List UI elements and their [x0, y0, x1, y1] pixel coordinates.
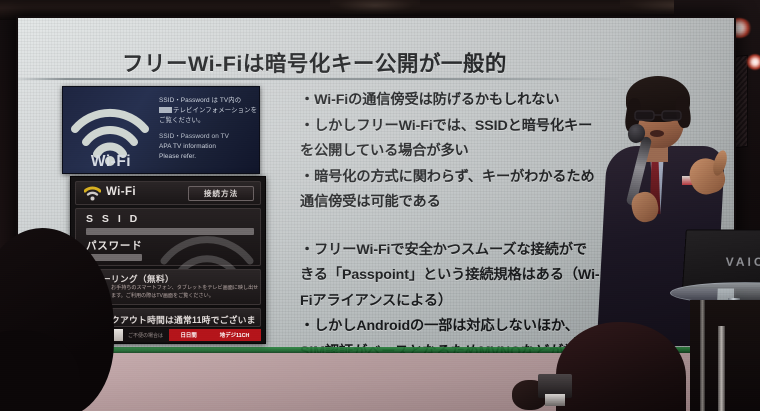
wifi-header-bar: Wi-Fi 接続方法: [75, 181, 261, 205]
redacted-block: [159, 107, 172, 113]
bullet-line: ・しかしフリーWi-Fiでは、SSIDと暗号化キー: [300, 114, 630, 140]
photo-scene: フリーWi-Fiは暗号化キー公開が一般的 ・Wi-Fiの通信傍受は防げるかもしれ…: [0, 0, 760, 411]
stage-lamp-3: [746, 54, 760, 70]
tv-wifi-info-panel: Wi-Fi SSID・Password は TV内の テレビインフォメーションを…: [62, 86, 260, 174]
ssid-label: S S I D: [86, 213, 140, 225]
tv-wifi-brand-label: Wi-Fi: [65, 153, 157, 171]
bottom-bar-caption: ご不便の場合は: [125, 328, 169, 342]
bullet-line: を公開している場合が多い: [300, 139, 630, 165]
title-divider: [18, 78, 618, 80]
tv-panel-text: SSID・Password は TV内の テレビインフォメーションを ご覧くださ…: [159, 96, 259, 162]
bullet-line: 通信傍受は可能である: [300, 190, 630, 216]
channel-label-2: 地デジ11CH: [220, 331, 250, 339]
mirroring-description: お手持ちのスマートフォン、タブレットをテレビ画面に映し出せます。ご利用の際はTV…: [111, 285, 259, 300]
presenter-mouth: [650, 130, 664, 137]
mic-stand-pole: [718, 326, 725, 411]
bullet-group-1: ・Wi-Fiの通信傍受は防げるかもしれない ・しかしフリーWi-Fiでは、SSI…: [300, 88, 630, 216]
presenter-laptop: VAIO: [682, 230, 760, 289]
bullet-line: ・フリーWi-Fiで安全かつスムーズな接続がで: [300, 238, 630, 264]
glasses-icon: [634, 108, 682, 120]
tripod-pole: [700, 300, 705, 411]
bullet-line: ・暗号化の方式に関わらず、キーがわかるため: [300, 165, 630, 191]
wifi-header-title: Wi-Fi: [106, 186, 136, 198]
laptop-brand-label: VAIO: [684, 255, 760, 269]
ssid-value-redacted: [86, 228, 254, 235]
ceiling-light-rig: [330, 0, 420, 14]
bullet-line: ・Wi-Fiの通信傍受は防げるかもしれない: [300, 88, 630, 114]
connection-method-button[interactable]: 接続方法: [188, 186, 254, 201]
bottom-bar-channel-strip[interactable]: 日日間 地デジ11CH: [169, 329, 261, 341]
tv-en-line-2: APA TV information: [159, 142, 259, 152]
password-label: パスワード: [86, 238, 143, 253]
camera-screen: [545, 394, 565, 406]
channel-label-1: 日日間: [181, 331, 197, 339]
tv-jp-line-2: テレビインフォメーションを: [159, 106, 259, 116]
tv-jp-line-1: SSID・Password は TV内の: [159, 96, 259, 106]
slide-title: フリーWi-Fiは暗号化キー公開が一般的: [122, 47, 507, 78]
tv-en-line-3: Please refer.: [159, 152, 259, 162]
tv-en-line-1: SSID・Password on TV: [159, 132, 259, 142]
bullet-line: きる「Passpoint」という接続規格はある（Wi-: [300, 263, 630, 289]
credentials-field-group: S S I D パスワード: [75, 208, 261, 266]
bullet-line: Fiアライアンスによる）: [300, 289, 630, 315]
wifi-icon: [84, 186, 101, 201]
tv-jp-line-3: ご覧ください。: [159, 116, 259, 126]
